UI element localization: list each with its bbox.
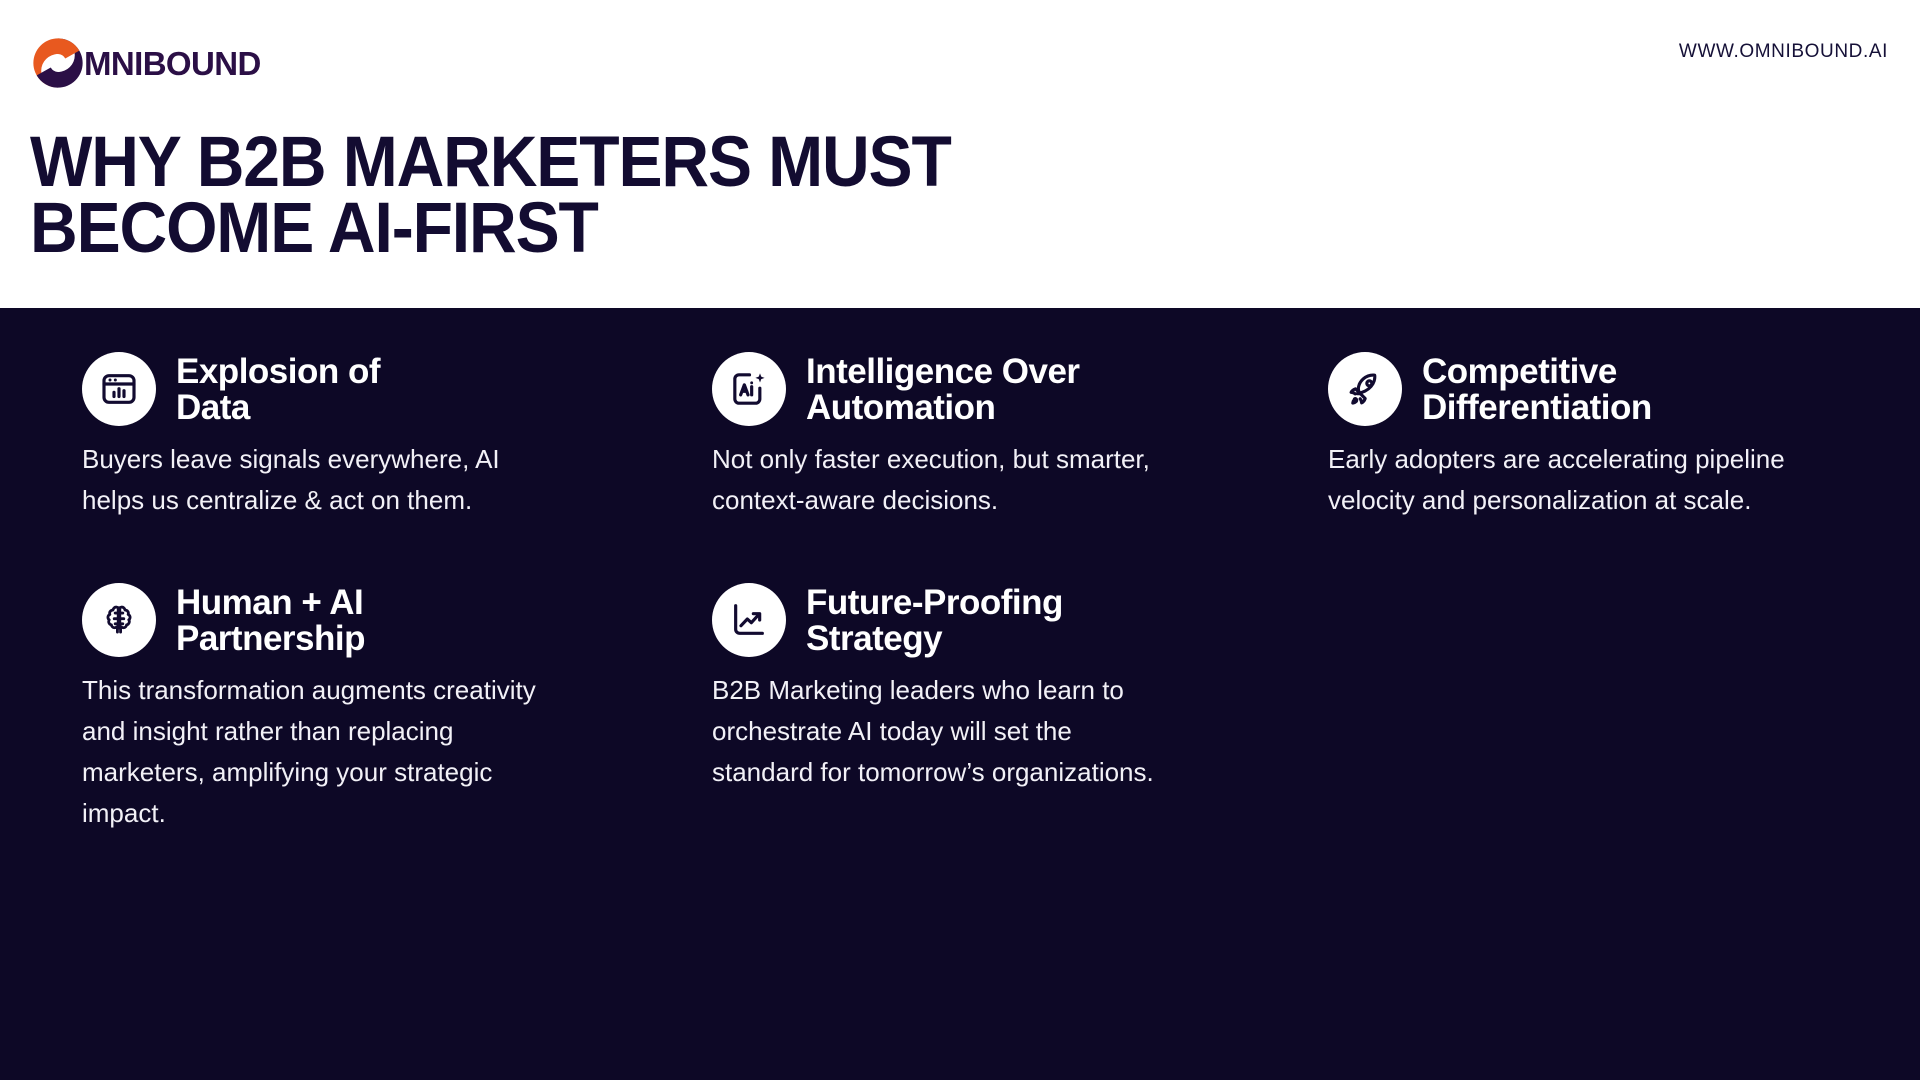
dashboard-bar-chart-icon	[82, 352, 156, 426]
site-url[interactable]: WWW.OMNIBOUND.AI	[1679, 41, 1888, 63]
ai-sparkle-icon	[712, 352, 786, 426]
benefit-card-intelligence-over-automation: Intelligence Over Automation Not only fa…	[712, 350, 1328, 521]
header-band: MNIBOUND WWW.OMNIBOUND.AI WHY B2B MARKET…	[0, 0, 1920, 308]
card-title: Explosion of Data	[176, 350, 380, 427]
card-header: Human + AI Partnership	[82, 581, 712, 658]
card-title: Human + AI Partnership	[176, 581, 365, 658]
omnibound-circle-logo-icon	[30, 35, 86, 91]
card-description: Early adopters are accelerating pipeline…	[1328, 439, 1798, 521]
card-description: Not only faster execution, but smarter, …	[712, 439, 1172, 521]
benefit-card-grid: Explosion of Data Buyers leave signals e…	[0, 308, 1920, 1080]
card-title: Future-Proofing Strategy	[806, 581, 1063, 658]
card-header: Intelligence Over Automation	[712, 350, 1328, 427]
benefit-card-competitive-differentiation: Competitive Differentiation Early adopte…	[1328, 350, 1902, 521]
trending-up-chart-icon	[712, 583, 786, 657]
card-title: Competitive Differentiation	[1422, 350, 1652, 427]
benefit-card-future-proofing-strategy: Future-Proofing Strategy B2B Marketing l…	[712, 581, 1328, 834]
card-description: B2B Marketing leaders who learn to orche…	[712, 670, 1172, 793]
slide-root: MNIBOUND WWW.OMNIBOUND.AI WHY B2B MARKET…	[0, 0, 1920, 1080]
rocket-icon	[1328, 352, 1402, 426]
page-title: WHY B2B MARKETERS MUST BECOME AI-FIRST	[30, 130, 1332, 262]
benefit-card-human-plus-ai-partnership: Human + AI Partnership This transformati…	[82, 581, 712, 834]
card-description: This transformation augments creativity …	[82, 670, 552, 834]
benefit-card-explosion-of-data: Explosion of Data Buyers leave signals e…	[82, 350, 712, 521]
card-description: Buyers leave signals everywhere, AI help…	[82, 439, 557, 521]
brain-icon	[82, 583, 156, 657]
brand-name: MNIBOUND	[84, 47, 261, 80]
card-header: Explosion of Data	[82, 350, 712, 427]
card-header: Competitive Differentiation	[1328, 350, 1902, 427]
brand-logo[interactable]: MNIBOUND	[30, 33, 261, 93]
content-band: Explosion of Data Buyers leave signals e…	[0, 308, 1920, 1080]
card-title: Intelligence Over Automation	[806, 350, 1080, 427]
card-header: Future-Proofing Strategy	[712, 581, 1328, 658]
